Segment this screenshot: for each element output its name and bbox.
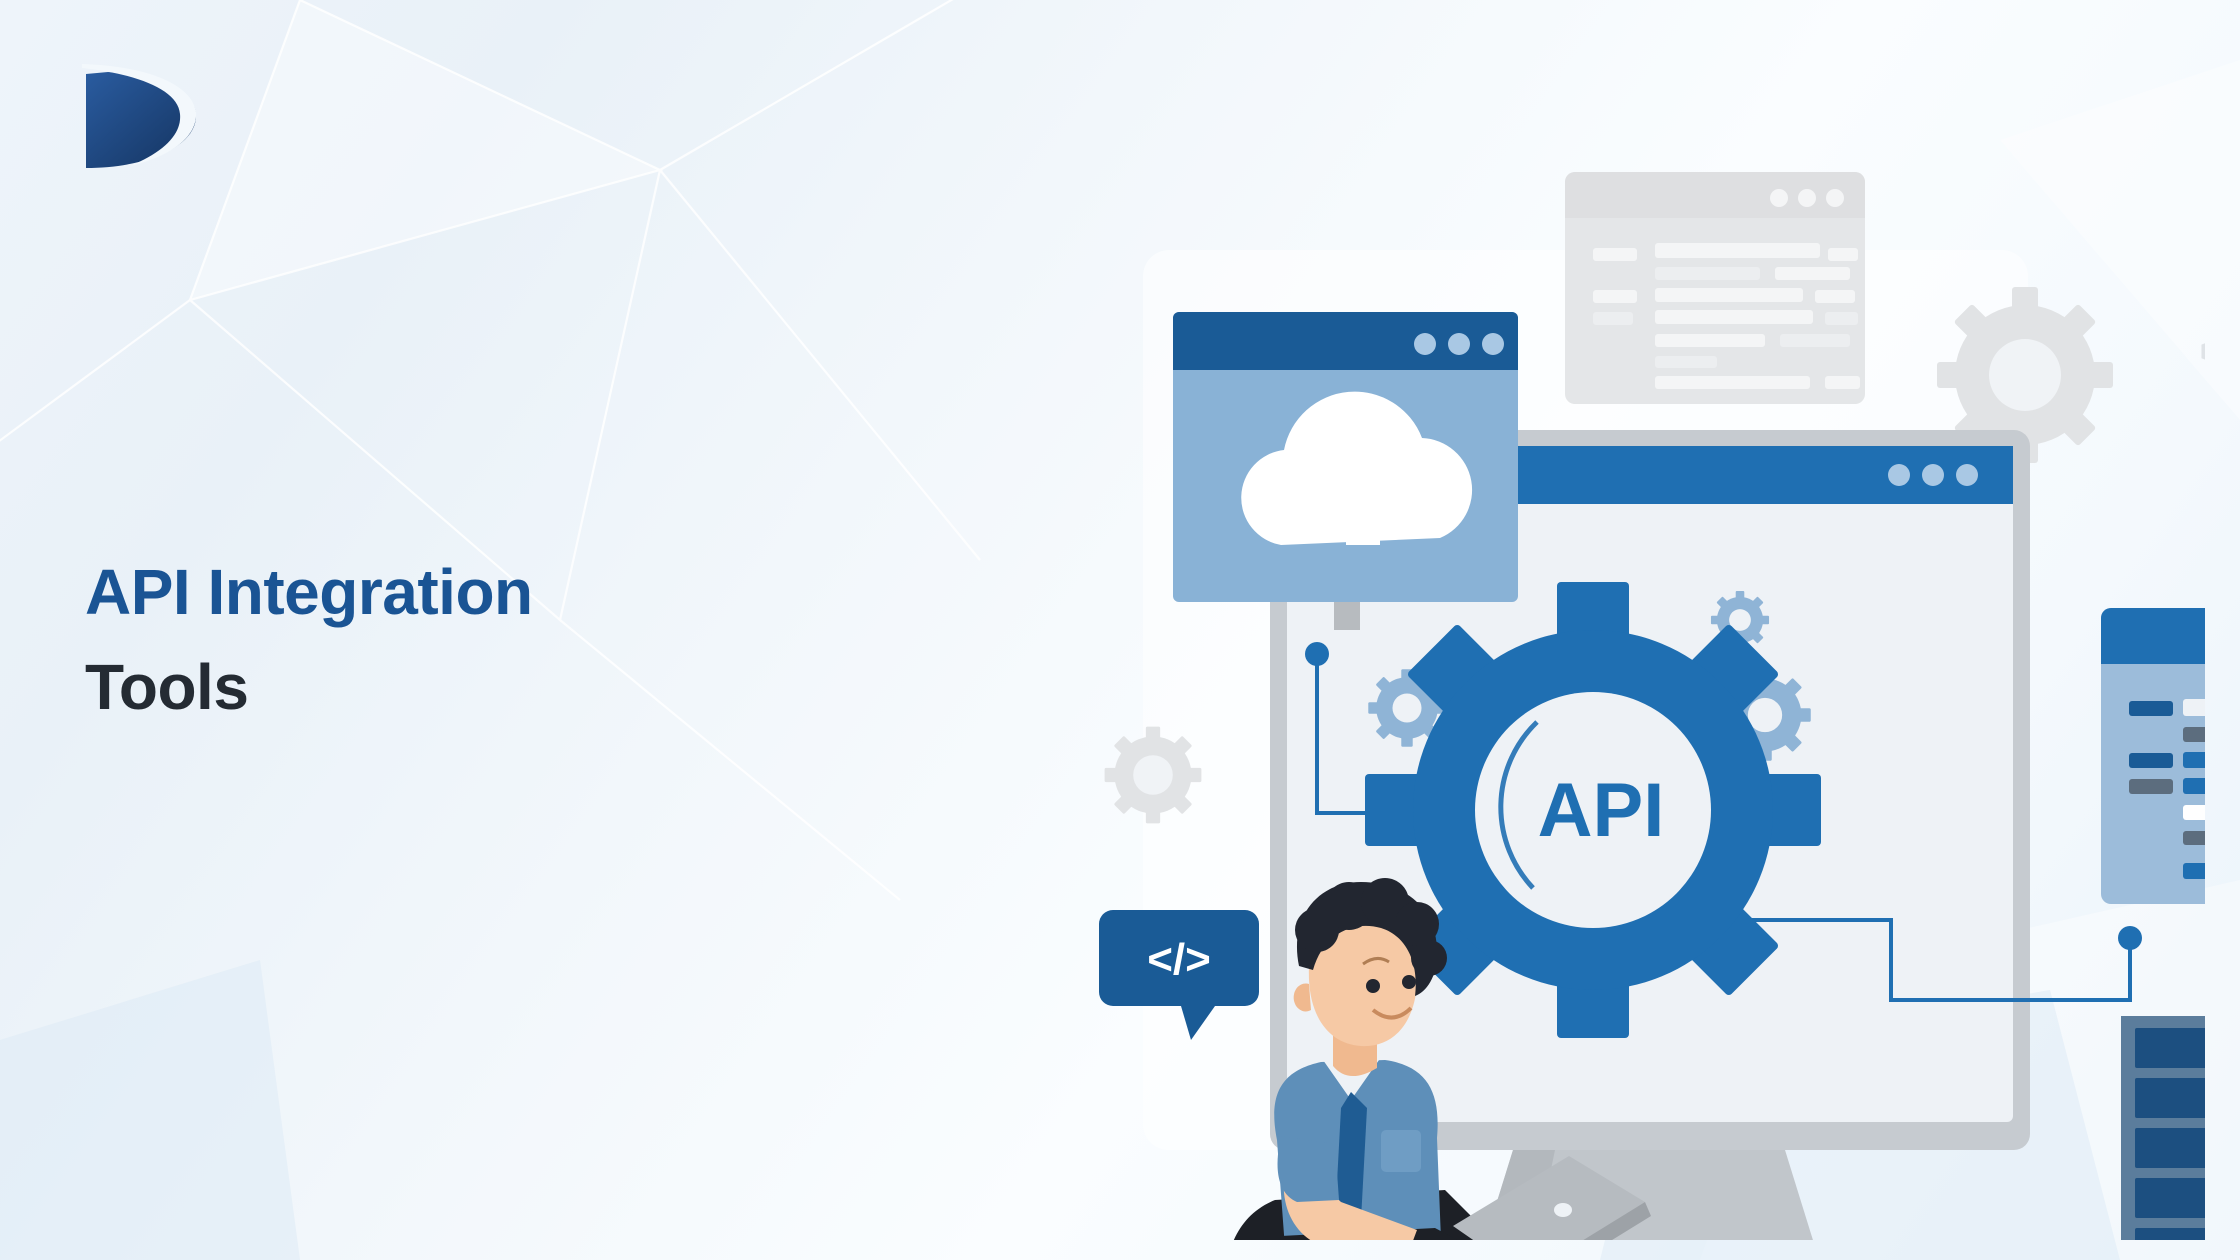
api-gear-label: API: [1538, 768, 1665, 853]
page-title-line-2: Tools: [85, 640, 533, 735]
cloud-upload-window[interactable]: [1173, 312, 1518, 630]
page-title-line-1: API Integration: [85, 545, 533, 640]
code-window-titlebar: [2101, 608, 2205, 664]
cloud-window-dots-icon: [1414, 333, 1504, 355]
connector-right-node: [2118, 926, 2142, 950]
laptop-logo-icon: [1554, 1203, 1572, 1217]
code-editor-window[interactable]: [2101, 608, 2205, 904]
character-eye-left: [1366, 979, 1380, 993]
server-rack[interactable]: [2121, 1016, 2205, 1240]
monitor-window-dots-icon: [1888, 464, 1978, 486]
api-integration-illustration: </>: [1085, 130, 2205, 1240]
server-rack-side-panels: [2135, 1028, 2205, 1240]
code-bubble-label: </>: [1147, 935, 1211, 984]
code-glyph-faded-icon: </>: [2198, 303, 2205, 399]
character-eye-right: [1402, 975, 1416, 989]
cloud-window-stem: [1334, 602, 1360, 630]
company-logo-d[interactable]: [68, 42, 208, 172]
window-dots-icon: [1770, 189, 1844, 207]
faded-document-window[interactable]: [1565, 172, 1865, 404]
connector-left-node: [1305, 642, 1329, 666]
banner-root: API Integration Tools: [0, 0, 2240, 1260]
page-title: API Integration Tools: [85, 545, 533, 734]
gear-gray-left: [1105, 727, 1202, 824]
